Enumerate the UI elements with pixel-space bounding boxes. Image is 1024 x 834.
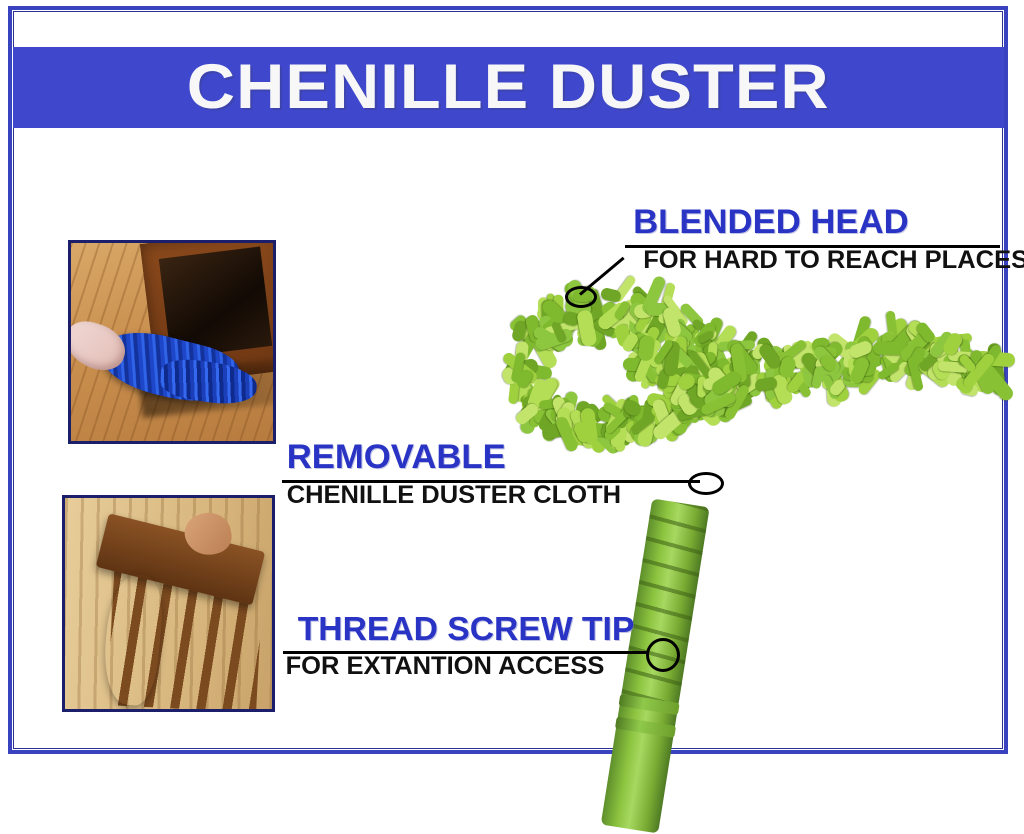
callout-blended-head: BLENDED HEAD FOR HARD TO REACH PLACES xyxy=(625,205,1024,273)
callout-title: REMOVABLE xyxy=(287,440,621,474)
callout-subtitle: CHENILLE DUSTER CLOTH xyxy=(287,483,621,508)
callout-marker xyxy=(688,472,724,495)
callout-subtitle: FOR EXTANTION ACCESS xyxy=(286,654,635,679)
dusting-under-cabinet-photo xyxy=(68,240,276,444)
callout-title: BLENDED HEAD xyxy=(633,205,1024,239)
poster-canvas: CHENILLE DUSTER xyxy=(0,0,1024,768)
inset-top-scene xyxy=(71,243,273,441)
callout-marker xyxy=(565,286,597,308)
callout-thread-screw-tip: THREAD SCREW TIP FOR EXTANTION ACCESS xyxy=(283,612,631,679)
callout-removable: REMOVABLE CHENILLE DUSTER CLOTH xyxy=(282,440,618,508)
title-banner: CHENILLE DUSTER xyxy=(13,47,1004,128)
callout-subtitle: FOR HARD TO REACH PLACES xyxy=(643,248,1024,273)
callout-marker xyxy=(646,638,680,672)
dusting-chair-slats-photo xyxy=(62,495,275,712)
chenille-duster-head xyxy=(480,255,1008,555)
page-title: CHENILLE DUSTER xyxy=(187,56,830,119)
callout-title: THREAD SCREW TIP xyxy=(298,612,635,645)
inset-bottom-scene xyxy=(65,498,272,709)
